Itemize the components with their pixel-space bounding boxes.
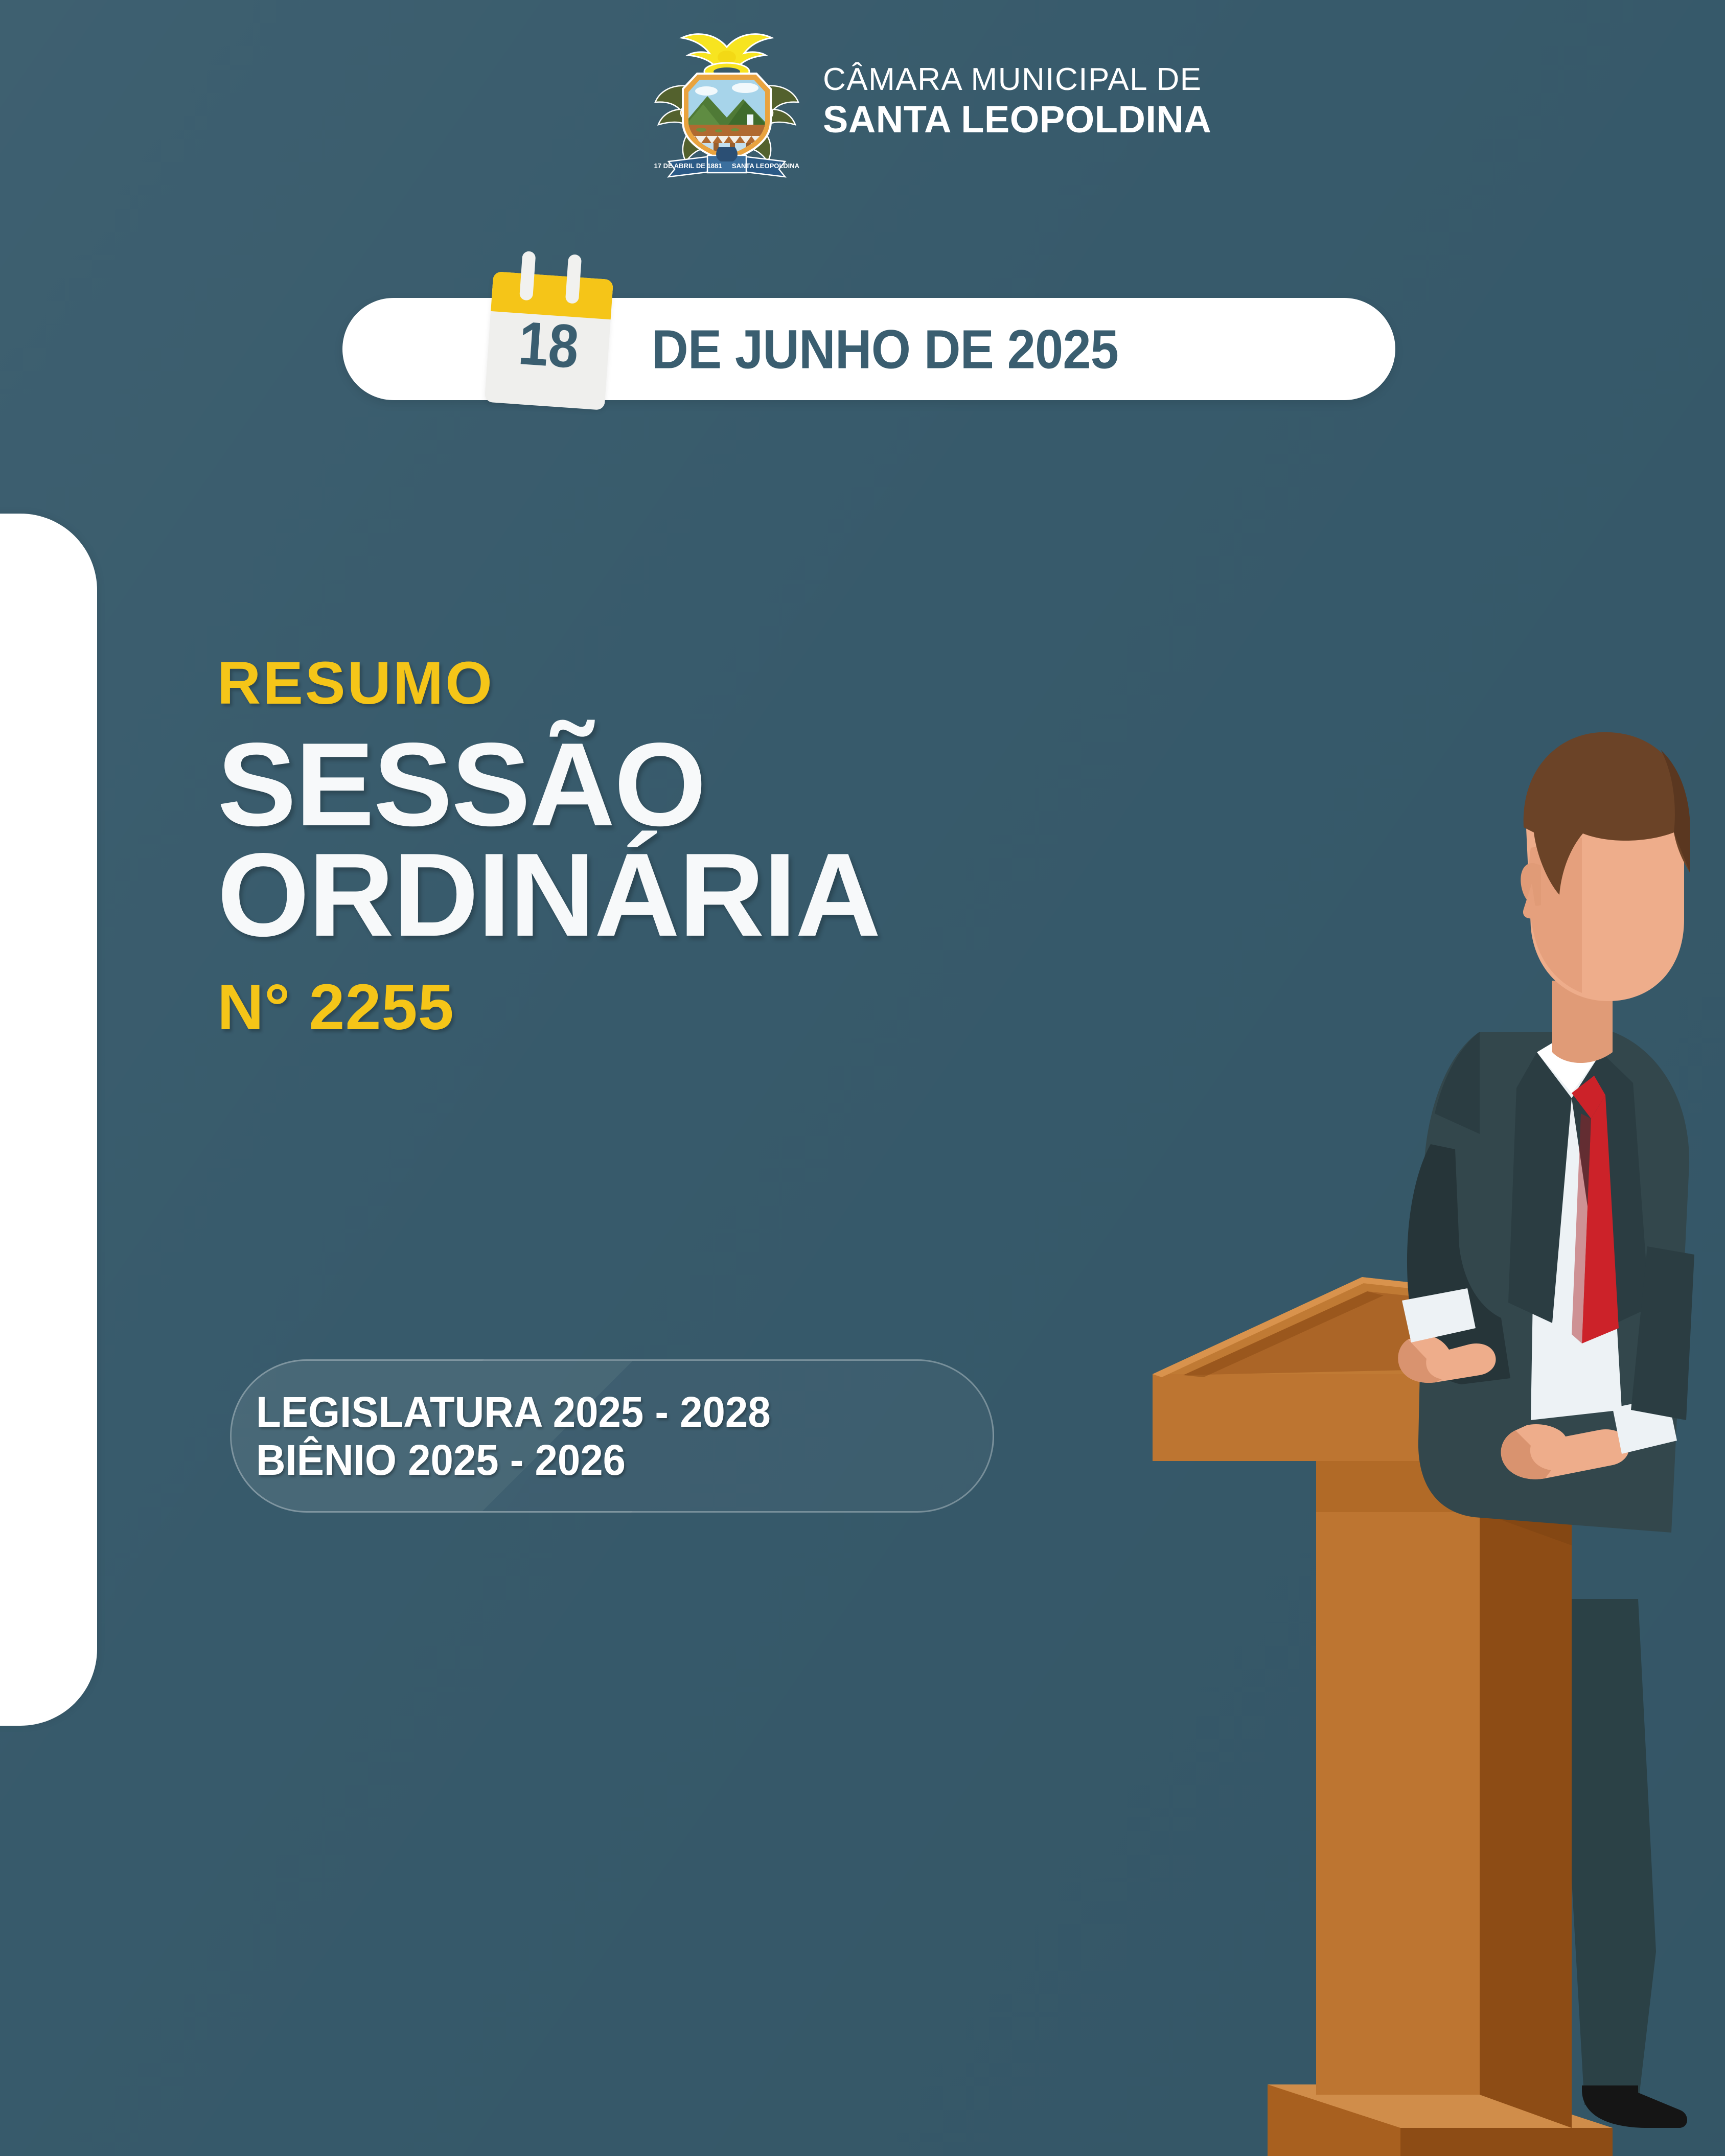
page-title: SESSÃO ORDINÁRIA	[217, 730, 1188, 951]
headline-block: RESUMO SESSÃO ORDINÁRIA N° 2255	[217, 653, 1188, 1039]
left-decorative-panel	[0, 514, 97, 1726]
coat-of-arms-icon: 17 DE ABRIL DE 1881 SANTA LEOPOLDINA	[650, 25, 803, 178]
session-number: N° 2255	[217, 975, 1188, 1039]
brand-header: 17 DE ABRIL DE 1881 SANTA LEOPOLDINA CÂM…	[650, 25, 1211, 178]
calendar-icon: 18	[485, 249, 615, 410]
brand-line-1: CÂMARA MUNICIPAL DE	[823, 64, 1211, 96]
legislature-badge: LEGISLATURA 2025 - 2028 BIÊNIO 2025 - 20…	[230, 1359, 994, 1513]
brand-text: CÂMARA MUNICIPAL DE SANTA LEOPOLDINA	[823, 64, 1211, 138]
brand-line-2: SANTA LEOPOLDINA	[823, 101, 1211, 138]
date-banner: 18 DE JUNHO DE 2025	[342, 298, 1395, 400]
page-title-line-2: ORDINÁRIA	[217, 840, 1188, 951]
calendar-day-number: 18	[494, 311, 604, 379]
page-title-line-1: SESSÃO	[217, 730, 1188, 840]
svg-text:SANTA LEOPOLDINA: SANTA LEOPOLDINA	[732, 162, 800, 170]
legislature-line: LEGISLATURA 2025 - 2028	[256, 1388, 771, 1436]
headline-kicker: RESUMO	[217, 653, 1188, 713]
man-at-podium-illustration	[1122, 643, 1725, 2156]
biennium-line: BIÊNIO 2025 - 2026	[256, 1436, 626, 1484]
date-label: DE JUNHO DE 2025	[652, 317, 1118, 381]
svg-text:17 DE ABRIL DE 1881: 17 DE ABRIL DE 1881	[654, 162, 722, 170]
